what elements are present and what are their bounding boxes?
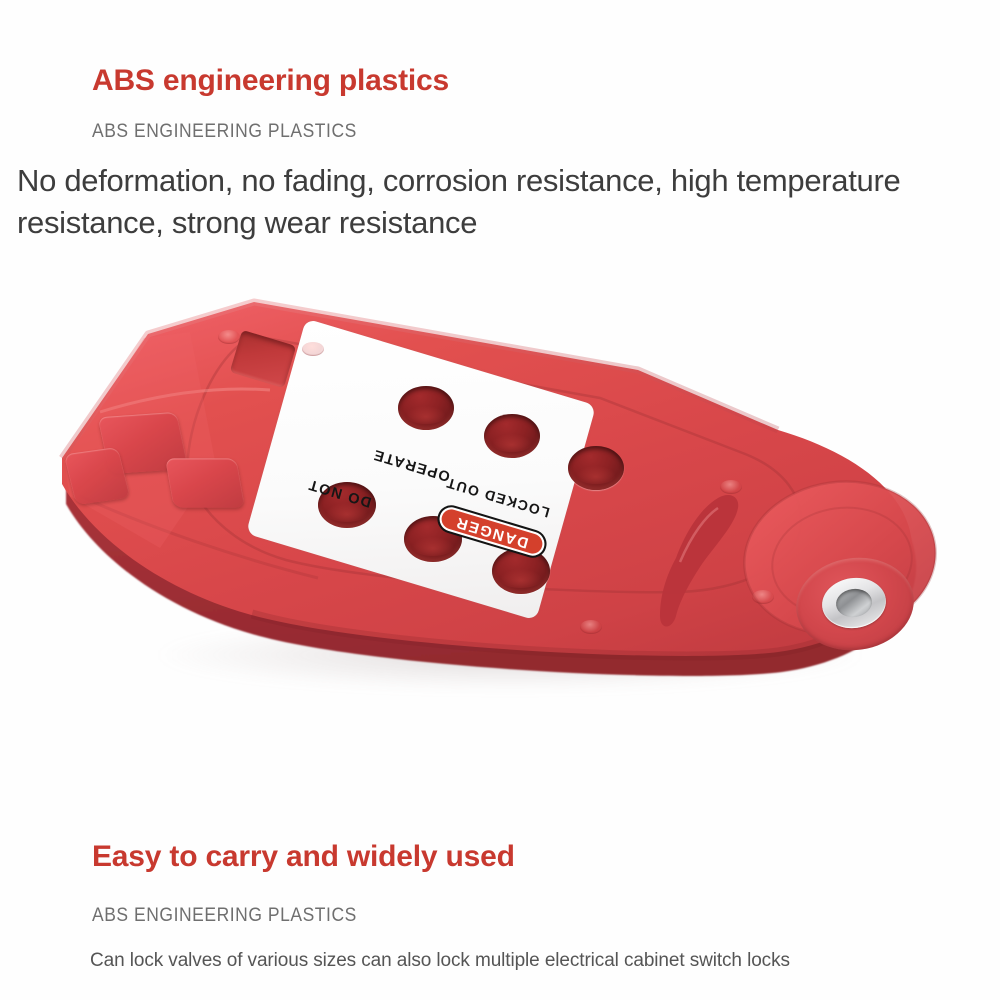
moulding-pip-2: [302, 342, 324, 356]
hinge-finger-2: [165, 458, 245, 507]
lock-hole-2: [484, 414, 540, 458]
bottom-subheading: ABS ENGINEERING PLASTICS: [92, 905, 357, 927]
product-image: DO NOT OPERATE LOCKED OUT DANGER: [40, 290, 970, 730]
product-feature-page: ABS engineering plastics ABS ENGINEERING…: [0, 0, 1000, 1000]
moulding-pip-1: [218, 330, 240, 344]
top-subheading: ABS ENGINEERING PLASTICS: [92, 121, 357, 143]
top-heading: ABS engineering plastics: [92, 64, 449, 98]
lock-hole-1: [398, 386, 454, 430]
moulding-pip-5: [580, 620, 602, 634]
bottom-heading: Easy to carry and widely used: [92, 840, 515, 874]
moulding-pip-4: [752, 590, 774, 604]
bottom-body-text: Can lock valves of various sizes can als…: [90, 948, 790, 975]
moulding-pip-3: [720, 480, 742, 494]
top-body-text: No deformation, no fading, corrosion res…: [17, 160, 977, 244]
lock-hole-3: [568, 446, 624, 490]
